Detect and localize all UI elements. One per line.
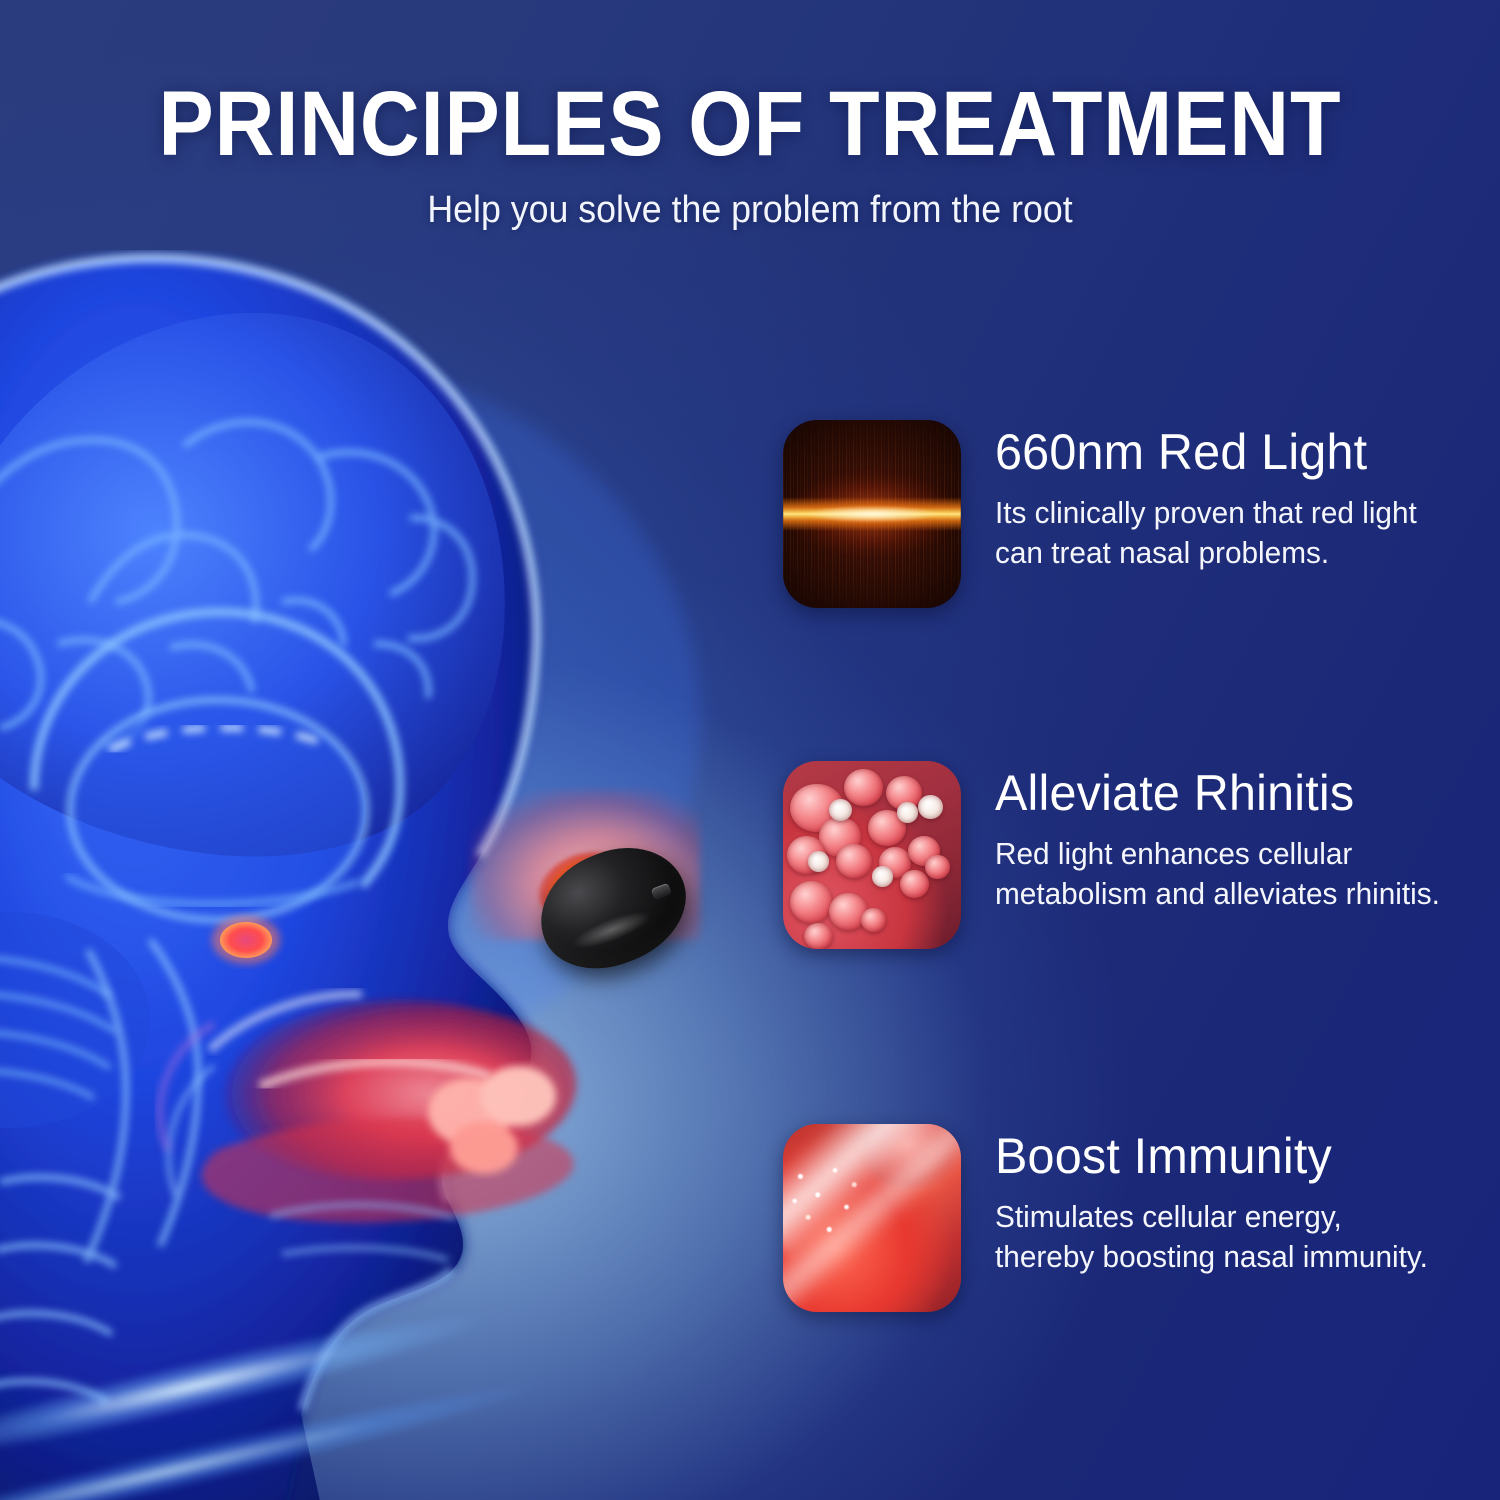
red-blood-cells-icon bbox=[783, 761, 961, 949]
device-power-button[interactable] bbox=[651, 882, 672, 900]
cellular-energy-light-icon bbox=[783, 1124, 961, 1312]
feature-heading: Boost Immunity bbox=[995, 1130, 1432, 1183]
feature-text-alleviate-rhinitis: Alleviate Rhinitis Red light enhances ce… bbox=[961, 761, 1459, 915]
feature-item-red-light: 660nm Red Light Its clinically proven th… bbox=[783, 420, 1483, 608]
red-light-spectrum-icon bbox=[783, 420, 961, 608]
feature-item-boost-immunity: Boost Immunity Stimulates cellular energ… bbox=[783, 1124, 1483, 1312]
feature-heading: Alleviate Rhinitis bbox=[995, 767, 1445, 820]
feature-description: Red light enhances cellular metabolism a… bbox=[995, 820, 1440, 915]
spectrum-core-beam bbox=[783, 497, 961, 531]
page-subtitle: Help you solve the problem from the root bbox=[45, 163, 1455, 232]
pituitary-gland-highlight bbox=[212, 916, 280, 964]
infographic-canvas: PRINCIPLES OF TREATMENT Help you solve t… bbox=[0, 0, 1500, 1500]
feature-heading: 660nm Red Light bbox=[995, 426, 1421, 479]
xray-head-illustration bbox=[0, 250, 830, 1500]
energy-sparkles bbox=[787, 1154, 883, 1256]
page-header: PRINCIPLES OF TREATMENT Help you solve t… bbox=[0, 0, 1500, 270]
feature-item-alleviate-rhinitis: Alleviate Rhinitis Red light enhances ce… bbox=[783, 761, 1483, 949]
device-highlight bbox=[569, 905, 655, 956]
feature-description: Its clinically proven that red light can… bbox=[995, 479, 1417, 574]
page-title: PRINCIPLES OF TREATMENT bbox=[75, 0, 1425, 163]
feature-description: Stimulates cellular energy, thereby boos… bbox=[995, 1183, 1428, 1278]
feature-text-red-light: 660nm Red Light Its clinically proven th… bbox=[961, 420, 1434, 574]
feature-text-boost-immunity: Boost Immunity Stimulates cellular energ… bbox=[961, 1124, 1446, 1278]
feature-list: 660nm Red Light Its clinically proven th… bbox=[783, 420, 1483, 1312]
